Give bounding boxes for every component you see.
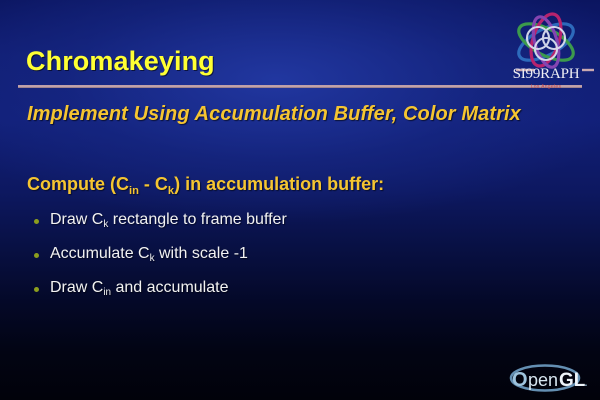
bullet-2-subscript: k [150,253,155,264]
bullet-dot-icon [34,278,50,298]
opengl-logo-icon: O pen GL . [508,362,596,394]
svg-text:.: . [584,373,588,389]
list-item-text: Accumulate Ck with scale -1 [50,244,248,266]
bullet-list: Draw Ck rectangle to frame buffer Accumu… [34,210,554,312]
siggraph-logo: SI99RAPH Los Angeles [494,8,598,102]
bullet-2-pre: Accumulate C [50,245,150,262]
bullet-dot-icon [34,210,50,230]
slide-subtitle: Implement Using Accumulation Buffer, Col… [27,103,521,126]
lead-subscript-in: in [129,185,139,197]
siggraph-wordmark: SI99RAPH [494,66,598,83]
lead-statement: Compute (Cin - Ck) in accumulation buffe… [27,174,384,195]
svg-text:pen: pen [528,370,558,390]
bullet-2-post: with scale -1 [155,245,248,262]
svg-text:O: O [512,369,528,391]
lead-part-3: ) in accumulation buffer: [174,174,384,194]
lead-subscript-k: k [168,185,174,197]
list-item-text: Draw Ck rectangle to frame buffer [50,210,287,232]
lead-part-1: Compute (C [27,174,129,194]
list-item: Accumulate Ck with scale -1 [34,244,554,278]
bullet-3-post: and accumulate [111,279,228,296]
opengl-logo: O pen GL . [508,362,596,394]
slide-canvas: Chromakeying Implement Using Accumulatio… [0,0,600,400]
bullet-1-post: rectangle to frame buffer [108,211,286,228]
list-item-text: Draw Cin and accumulate [50,278,228,300]
list-item: Draw Ck rectangle to frame buffer [34,210,554,244]
list-item: Draw Cin and accumulate [34,278,554,312]
page-title: Chromakeying [26,46,215,77]
bullet-1-pre: Draw C [50,211,103,228]
svg-text:GL: GL [559,370,586,391]
siggraph-location: Los Angeles [494,84,598,90]
bullet-dot-icon [34,244,50,264]
lead-part-2: - C [139,174,168,194]
bullet-3-subscript: in [103,287,111,298]
bullet-1-subscript: k [103,219,108,230]
bullet-3-pre: Draw C [50,279,103,296]
